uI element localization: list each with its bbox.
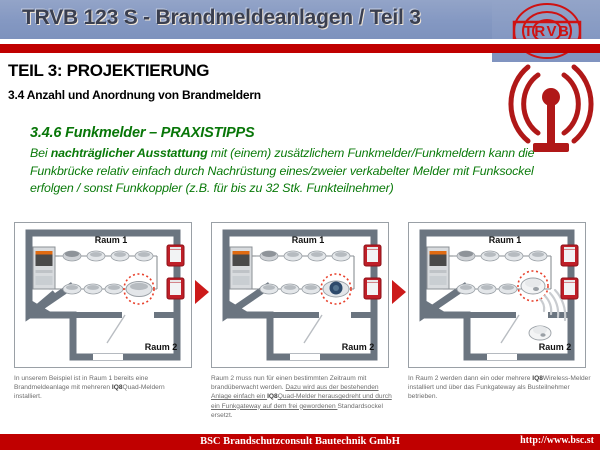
section-heading: 3.4 Anzahl und Anordnung von Brandmelder… bbox=[8, 88, 261, 102]
floorplan-2: Raum 1 Raum 2 bbox=[212, 223, 388, 367]
funkgateway-icon bbox=[323, 281, 349, 297]
fire-panel-icon bbox=[427, 247, 449, 289]
part-heading: TEIL 3: PROJEKTIERUNG bbox=[8, 61, 209, 81]
fire-panel-icon bbox=[230, 247, 252, 289]
room1-label-3: Raum 1 bbox=[489, 235, 522, 245]
caption-1-bold: IQ8 bbox=[112, 384, 123, 391]
caption-3-bold: IQ8 bbox=[532, 375, 543, 382]
diagram-panel-row: Raum 1 Raum 2 bbox=[14, 222, 586, 368]
tips-title: 3.4.6 Funkmelder – PRAXISTIPPS bbox=[30, 125, 254, 141]
diagram-panel-3: Raum 1 Raum 2 bbox=[408, 222, 586, 368]
tips-line1-pre: Bei bbox=[30, 146, 51, 160]
caption-1: In unserem Beispiel ist in Raum 1 bereit… bbox=[14, 374, 194, 402]
room2-label-1: Raum 2 bbox=[145, 342, 178, 352]
fire-panel-icon bbox=[33, 247, 55, 289]
page-title: TRVB 123 S - Brandmeldeanlagen / Teil 3 bbox=[22, 6, 482, 36]
tips-body: Bei nachträglicher Ausstattung mit (eine… bbox=[30, 145, 575, 198]
radio-tower-icon bbox=[505, 57, 597, 155]
svg-text:TRVB: TRVB bbox=[524, 23, 571, 40]
logo-red-stripe bbox=[492, 44, 600, 53]
funkgateway-icon bbox=[521, 278, 545, 294]
caption-3-pre: In Raum 2 werden dann ein oder mehrere bbox=[408, 375, 532, 382]
tips-line2: Funkbrücke relativ einfach durch Nachrüs… bbox=[30, 164, 469, 178]
caption-2: Raum 2 muss nun für einen bestimmten Zei… bbox=[211, 374, 395, 420]
room1-label-1: Raum 1 bbox=[95, 235, 128, 245]
footer-url[interactable]: http://www.bsc.st bbox=[520, 433, 594, 449]
tips-line1-post: mit (einem) zusätzlichem Funkmelder/Funk… bbox=[208, 146, 535, 160]
room1-label-2: Raum 1 bbox=[292, 235, 325, 245]
floorplan-1: Raum 1 Raum 2 bbox=[15, 223, 191, 367]
tips-line1-bold: nachträglicher Ausstattung bbox=[51, 146, 208, 160]
wireless-detector-icon bbox=[529, 326, 551, 340]
room2-label-3: Raum 2 bbox=[539, 342, 572, 352]
right-arrow-icon-1 bbox=[193, 278, 211, 306]
room2-label-2: Raum 2 bbox=[342, 342, 375, 352]
diagram-panel-2: Raum 1 Raum 2 bbox=[211, 222, 389, 368]
diagram-panel-1: Raum 1 Raum 2 bbox=[14, 222, 192, 368]
trvb-logo-panel: TRVB bbox=[492, 0, 600, 62]
slide-root: TRVB 123 S - Brandmeldeanlagen / Teil 3 … bbox=[0, 0, 600, 450]
footer-company: BSC Brandschutzconsult Bautechnik GmbH bbox=[0, 434, 600, 450]
caption-3: In Raum 2 werden dann ein oder mehrere I… bbox=[408, 374, 594, 402]
right-arrow-icon-2 bbox=[390, 278, 408, 306]
floorplan-3: Raum 1 Raum 2 bbox=[409, 223, 585, 367]
caption-2-bold: IQ8 bbox=[267, 393, 278, 400]
